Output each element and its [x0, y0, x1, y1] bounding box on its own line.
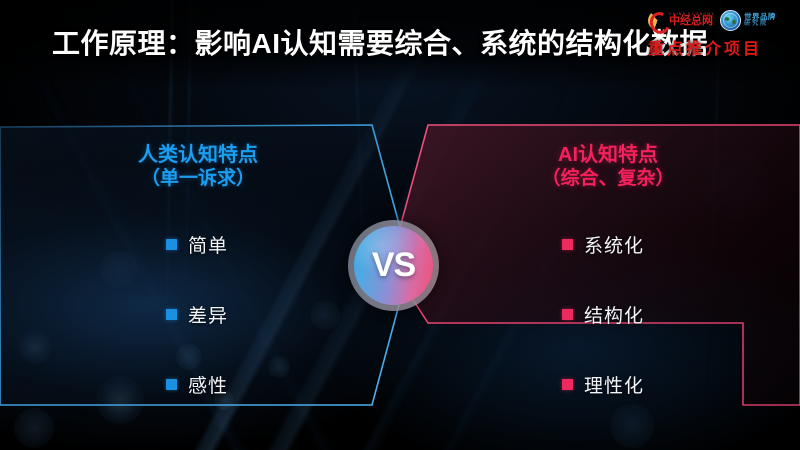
left-panel-heading: 人类认知特点 （单一诉求）: [8, 144, 388, 190]
bullet-square-icon: [166, 239, 177, 250]
zhongjing-logo: CHINA ECONOMY 中经总网: [648, 11, 715, 30]
globe-icon: [720, 10, 741, 31]
slide-canvas: 工作原理：影响AI认知需要综合、系统的结构化数据 CHINA ECONOMY 中…: [0, 0, 800, 450]
list-item-label: 理性化: [584, 371, 644, 398]
bullet-square-icon: [166, 379, 177, 390]
right-heading-line1: AI认知特点: [558, 144, 658, 166]
left-heading-line2: （单一诉求）: [8, 168, 388, 190]
zhongjing-logo-name: 中经总网: [669, 16, 715, 27]
logo-row: CHINA ECONOMY 中经总网 世界品牌 研究院: [648, 8, 796, 32]
list-item-label: 结构化: [584, 301, 644, 328]
vs-badge-label: VS: [348, 220, 439, 311]
world-brand-line1: 世界品牌: [744, 13, 776, 21]
list-item-label: 简单: [188, 231, 228, 258]
page-title: 工作原理：影响AI认知需要综合、系统的结构化数据: [52, 22, 708, 62]
bullet-square-icon: [562, 239, 573, 250]
left-heading-line1: 人类认知特点: [138, 144, 258, 166]
right-bullet-list: 系统化 结构化 理性化: [450, 230, 800, 440]
list-item-label: 差异: [188, 301, 228, 328]
watermark-red-text: 重点推介项目: [648, 35, 796, 59]
world-brand-logo: 世界品牌 研究院: [720, 10, 776, 31]
list-item: 结构化: [450, 300, 800, 328]
bullet-square-icon: [562, 309, 573, 320]
ai-cognition-panel: AI认知特点 （综合、复杂） 系统化 结构化 理性化: [390, 118, 770, 410]
world-brand-text: 世界品牌 研究院: [744, 13, 776, 27]
bullet-square-icon: [562, 379, 573, 390]
list-item: 系统化: [450, 230, 800, 258]
list-item: 感性: [38, 370, 418, 398]
zhongjing-mark-icon: [648, 11, 667, 30]
watermark-logos: CHINA ECONOMY 中经总网 世界品牌 研究院 重点推介项目: [648, 8, 796, 60]
list-item-label: 感性: [188, 371, 228, 398]
right-panel-content: AI认知特点 （综合、复杂） 系统化 结构化 理性化: [390, 118, 770, 410]
bullet-square-icon: [166, 309, 177, 320]
list-item-label: 系统化: [584, 231, 644, 258]
world-brand-line2: 研究院: [744, 21, 776, 27]
right-panel-heading: AI认知特点 （综合、复杂）: [418, 144, 798, 190]
list-item: 理性化: [450, 370, 800, 398]
vs-badge: VS: [348, 220, 439, 311]
right-heading-line2: （综合、复杂）: [418, 168, 798, 190]
